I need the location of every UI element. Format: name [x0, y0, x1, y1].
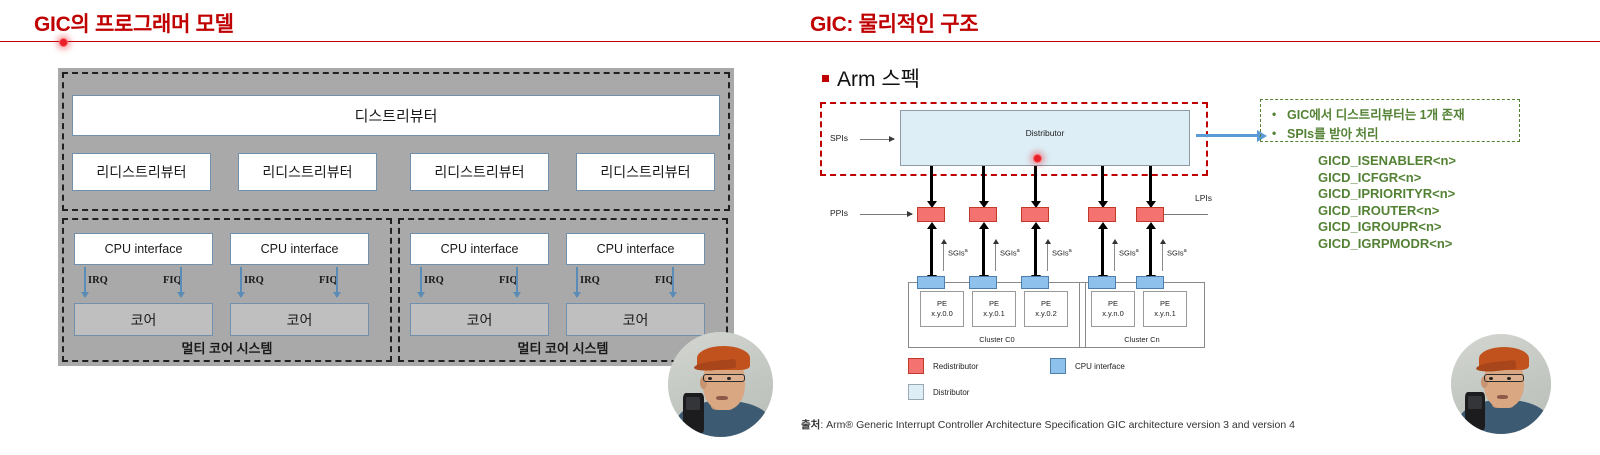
pe-id-0-2: x.y.0.2	[1025, 309, 1067, 319]
sgi-label-4: SGIsa	[1119, 248, 1139, 258]
cluster-box-0: PE x.y.0.0 PE x.y.0.1 PE x.y.0.2 Cluster…	[908, 282, 1086, 348]
gic-physical-structure-figure: Distributor SPIs PPIs LPIs SGIsa SGIsa	[812, 100, 1232, 355]
redistributor-block-3	[1021, 207, 1049, 222]
pe-box-1-0: PE x.y.n.0	[1091, 291, 1135, 327]
sgi-label-text-1: SGIs	[948, 249, 965, 258]
irq-label-4: IRQ	[580, 275, 600, 286]
webcam-overlay-right[interactable]	[1451, 334, 1551, 434]
spis-arrow	[860, 139, 894, 140]
redist-to-cpuif-arrow-1	[930, 228, 933, 276]
callout-item-2: SPIs를 받아 처리	[1271, 125, 1519, 144]
pe-id-0-0: x.y.0.0	[921, 309, 963, 319]
source-citation: 출처: Arm® Generic Interrupt Controller Ar…	[801, 417, 1295, 432]
right-page-title: GIC: 물리적인 구조	[810, 8, 978, 38]
fiq-label-1: FIQ	[163, 275, 182, 286]
pe-title-1-0: PE	[1092, 299, 1134, 309]
redistributor-block-4	[1088, 207, 1116, 222]
left-page-title: GIC의 프로그래머 모델	[34, 8, 234, 38]
left-slide: GIC의 프로그래머 모델 디스트리뷰터 리디스트리뷰터 리디스트리뷰터 리디스…	[0, 0, 782, 455]
sgi-superscript-1: a	[965, 248, 968, 254]
dist-to-redist-arrow-2	[982, 166, 985, 202]
fiq-label-2: FIQ	[319, 275, 338, 286]
webcam-eye-right-2	[1507, 377, 1511, 380]
redistributor-block-5	[1136, 207, 1164, 222]
redistributor-block-2	[969, 207, 997, 222]
register-item-4: GICD_IROUTER<n>	[1318, 203, 1456, 220]
distributor-callout-box: GIC에서 디스트리뷰터는 1개 존재 SPIs를 받아 처리	[1260, 99, 1520, 142]
cpu-interface-block-1	[917, 276, 945, 289]
irq-arrow-4	[576, 267, 578, 297]
webcam-overlay-left[interactable]	[668, 332, 773, 437]
multicore-system-caption-1: 멀티 코어 시스템	[64, 338, 390, 357]
webcam-microphone-2	[1465, 392, 1485, 430]
register-item-1: GICD_ISENABLER<n>	[1318, 153, 1456, 170]
cpu-interface-block-2	[969, 276, 997, 289]
pe-box-0-1: PE x.y.0.1	[972, 291, 1016, 327]
sgi-arrow-5	[1162, 243, 1163, 271]
legend-swatch-cpu-interface	[1050, 358, 1066, 374]
ppis-arrow	[860, 214, 912, 215]
register-item-2: GICD_ICFGR<n>	[1318, 170, 1456, 187]
spis-label: SPIs	[830, 133, 848, 143]
irq-label-2: IRQ	[244, 275, 264, 286]
sgi-label-2: SGIsa	[1000, 248, 1020, 258]
distributor-block: Distributor	[900, 110, 1190, 166]
source-prefix: 출처	[801, 419, 820, 431]
sgi-superscript-2: a	[1017, 248, 1020, 254]
dist-to-redist-arrow-3	[1034, 166, 1037, 202]
left-title-bar: GIC의 프로그래머 모델	[0, 0, 782, 46]
sgi-arrow-3	[1047, 243, 1048, 271]
cpu-interface-box-4: CPU interface	[566, 233, 705, 265]
legend-swatch-distributor	[908, 384, 924, 400]
distributor-block-label: Distributor	[901, 128, 1189, 138]
sgi-label-1: SGIsa	[948, 248, 968, 258]
pe-title-0-0: PE	[921, 299, 963, 309]
legend-swatch-redistributor	[908, 358, 924, 374]
ppis-label: PPIs	[830, 208, 848, 218]
multicore-system-group-1: CPU interface CPU interface IRQ FIQ IRQ …	[62, 218, 392, 362]
core-box-2: 코어	[230, 303, 369, 336]
core-box-3: 코어	[410, 303, 549, 336]
arm-spec-bullet-label: Arm 스펙	[837, 68, 920, 91]
sgi-label-5: SGIsa	[1167, 248, 1187, 258]
sgi-superscript-3: a	[1069, 248, 1072, 254]
gic-programmer-model-diagram: 디스트리뷰터 리디스트리뷰터 리디스트리뷰터 리디스트리뷰터 리디스트리뷰터 C…	[58, 68, 734, 366]
redistributor-box-3: 리디스트리뷰터	[410, 153, 549, 191]
cpu-interface-box-1: CPU interface	[74, 233, 213, 265]
source-text: : Arm® Generic Interrupt Controller Arch…	[820, 419, 1295, 431]
irq-arrow-2	[240, 267, 242, 297]
register-item-6: GICD_IGRPMODR<n>	[1318, 236, 1456, 253]
distributor-box: 디스트리뷰터	[72, 95, 720, 136]
sgi-superscript-4: a	[1136, 248, 1139, 254]
dist-to-redist-arrow-5	[1149, 166, 1152, 202]
cluster-name-1: Cluster Cn	[1080, 335, 1204, 344]
webcam-mouth-2	[1497, 395, 1508, 399]
irq-label-1: IRQ	[88, 275, 108, 286]
pe-id-1-1: x.y.n.1	[1144, 309, 1186, 319]
gicd-register-list: GICD_ISENABLER<n> GICD_ICFGR<n> GICD_IPR…	[1318, 153, 1456, 252]
dual-slide-view: GIC의 프로그래머 모델 디스트리뷰터 리디스트리뷰터 리디스트리뷰터 리디스…	[0, 0, 1600, 455]
right-title-divider	[782, 41, 1600, 42]
register-item-5: GICD_IGROUPR<n>	[1318, 219, 1456, 236]
webcam-mouth	[716, 396, 728, 400]
redist-to-cpuif-arrow-2	[982, 228, 985, 276]
redistributor-block-1	[917, 207, 945, 222]
legend-label-cpu-interface: CPU interface	[1075, 362, 1125, 371]
cpu-interface-box-3: CPU interface	[410, 233, 549, 265]
fiq-arrow-2	[336, 267, 338, 297]
cluster-name-0: Cluster C0	[909, 335, 1085, 344]
pe-title-0-1: PE	[973, 299, 1015, 309]
legend-label-distributor: Distributor	[933, 388, 969, 397]
arm-spec-bullet-heading: Arm 스펙	[822, 63, 920, 93]
dist-to-redist-arrow-1	[930, 166, 933, 202]
right-title-bar: GIC: 물리적인 구조	[782, 0, 1600, 46]
irq-arrow-3	[420, 267, 422, 297]
sgi-label-text-4: SGIs	[1119, 249, 1136, 258]
fiq-arrow-3	[516, 267, 518, 297]
cpu-interface-box-2: CPU interface	[230, 233, 369, 265]
pe-id-0-1: x.y.0.1	[973, 309, 1015, 319]
cluster-box-1: PE x.y.n.0 PE x.y.n.1 Cluster Cn	[1079, 282, 1205, 348]
pe-box-1-1: PE x.y.n.1	[1143, 291, 1187, 327]
sgi-arrow-1	[943, 243, 944, 271]
pe-box-0-2: PE x.y.0.2	[1024, 291, 1068, 327]
redistributor-box-2: 리디스트리뷰터	[238, 153, 377, 191]
cpu-interface-block-5	[1136, 276, 1164, 289]
sgi-label-text-2: SGIs	[1000, 249, 1017, 258]
sgi-arrow-4	[1114, 243, 1115, 271]
callout-list: GIC에서 디스트리뷰터는 1개 존재 SPIs를 받아 처리	[1271, 106, 1519, 144]
webcam-microphone	[683, 393, 704, 433]
fiq-arrow-1	[180, 267, 182, 297]
pe-title-1-1: PE	[1144, 299, 1186, 309]
legend-label-redistributor: Redistributor	[933, 362, 978, 371]
sgi-label-text-5: SGIs	[1167, 249, 1184, 258]
sgi-label-3: SGIsa	[1052, 248, 1072, 258]
redist-to-cpuif-arrow-3	[1034, 228, 1037, 276]
sgi-label-text-3: SGIs	[1052, 249, 1069, 258]
redistributor-box-1: 리디스트리뷰터	[72, 153, 211, 191]
redist-to-cpuif-arrow-4	[1101, 228, 1104, 276]
cursor-dot-right	[1033, 154, 1042, 163]
cpu-interface-block-3	[1021, 276, 1049, 289]
pe-box-0-0: PE x.y.0.0	[920, 291, 964, 327]
redistributor-box-4: 리디스트리뷰터	[576, 153, 715, 191]
redist-to-cpuif-arrow-5	[1149, 228, 1152, 276]
callout-pointer-arrow	[1196, 134, 1258, 137]
core-box-1: 코어	[74, 303, 213, 336]
fiq-label-4: FIQ	[655, 275, 674, 286]
irq-arrow-1	[84, 267, 86, 297]
sgi-superscript-5: a	[1184, 248, 1187, 254]
left-title-divider	[0, 41, 782, 42]
sgi-arrow-2	[995, 243, 996, 271]
irq-label-3: IRQ	[424, 275, 444, 286]
lpis-label: LPIs	[1195, 193, 1212, 203]
dist-to-redist-arrow-4	[1101, 166, 1104, 202]
fiq-label-3: FIQ	[499, 275, 518, 286]
bullet-square-icon	[822, 75, 829, 82]
cpu-interface-block-4	[1088, 276, 1116, 289]
pe-title-0-2: PE	[1025, 299, 1067, 309]
fiq-arrow-4	[672, 267, 674, 297]
callout-item-1: GIC에서 디스트리뷰터는 1개 존재	[1271, 106, 1519, 125]
pe-id-1-0: x.y.n.0	[1092, 309, 1134, 319]
webcam-eye-left-2	[1489, 377, 1493, 380]
cursor-dot-left	[59, 38, 68, 47]
register-item-3: GICD_IPRIORITYR<n>	[1318, 186, 1456, 203]
